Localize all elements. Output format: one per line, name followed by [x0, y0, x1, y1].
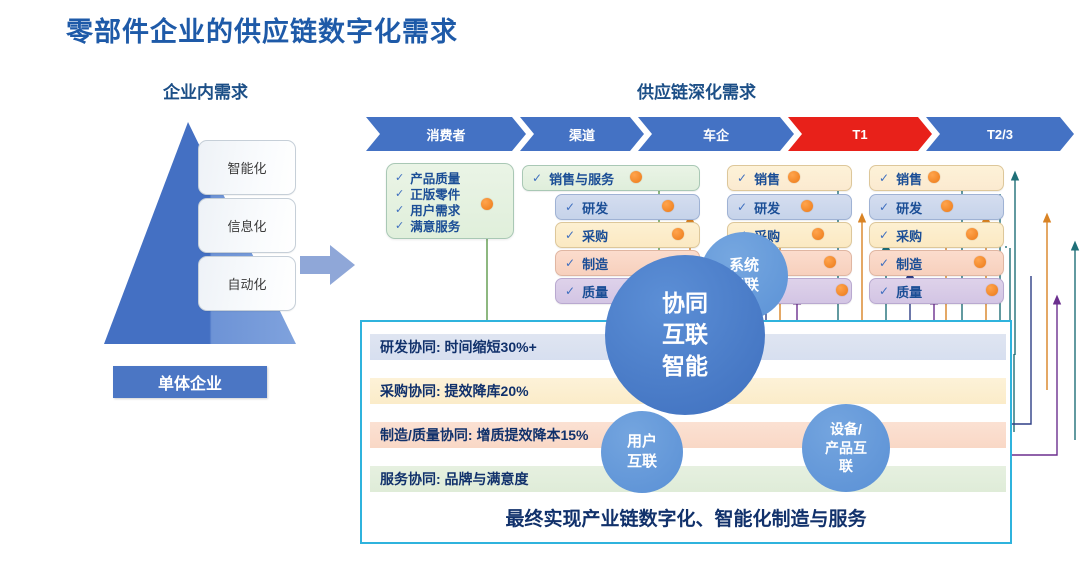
status-dot: [941, 200, 953, 212]
slide-canvas: 零部件企业的供应链数字化需求 企业内需求 供应链深化需求 智能化 信息化 自动化: [0, 0, 1080, 578]
oem-sales-service-label: 销售与服务: [549, 169, 614, 188]
t1-item-label: 研发: [754, 198, 780, 217]
check-icon: ✓: [879, 172, 889, 184]
t23-rd-pill[interactable]: ✓ 研发: [869, 194, 1004, 220]
check-icon: ✓: [395, 187, 404, 200]
circle-line: 设备/: [830, 420, 862, 439]
status-dot: [630, 171, 642, 183]
t23-item-label: 制造: [896, 254, 922, 273]
check-icon: ✓: [737, 201, 747, 213]
status-dot: [824, 256, 836, 268]
t1-rd-pill[interactable]: ✓ 研发: [727, 194, 852, 220]
synergy-row-label: 研发协同: 时间缩短30%+: [380, 337, 537, 357]
t23-quality-pill[interactable]: ✓ 质量: [869, 278, 1004, 304]
circle-line: 协同: [662, 288, 708, 319]
oem-item-label: 研发: [582, 198, 608, 217]
check-icon: ✓: [879, 285, 889, 297]
synergy-row-manufacture-quality: 制造/质量协同: 增质提效降本15%: [370, 422, 1006, 448]
check-icon: ✓: [395, 219, 404, 232]
status-dot: [928, 171, 940, 183]
status-dot: [966, 228, 978, 240]
oem-rd-pill[interactable]: ✓ 研发: [555, 194, 700, 220]
t23-item-label: 采购: [896, 226, 922, 245]
oem-item-label: 制造: [582, 254, 608, 273]
t23-item-label: 销售: [896, 169, 922, 188]
synergy-row-service: 服务协同: 品牌与满意度: [370, 466, 1006, 492]
check-icon: ✓: [532, 172, 542, 184]
circle-line: 用户: [627, 432, 657, 452]
status-dot: [812, 228, 824, 240]
circle-line: 互联: [662, 319, 708, 350]
check-icon: ✓: [737, 172, 747, 184]
check-icon: ✓: [565, 285, 575, 297]
oem-sales-service-pill[interactable]: ✓ 销售与服务: [522, 165, 700, 191]
circle-core-synergy[interactable]: 协同 互联 智能: [605, 255, 765, 415]
status-dot: [836, 284, 848, 296]
t23-item-label: 研发: [896, 198, 922, 217]
synergy-row-label: 服务协同: 品牌与满意度: [380, 469, 529, 489]
synergy-row-label: 制造/质量协同: 增质提效降本15%: [380, 425, 588, 445]
circle-line: 互联: [627, 452, 657, 472]
check-icon: ✓: [879, 229, 889, 241]
circle-device-product-interconnect[interactable]: 设备/ 产品互 联: [802, 404, 890, 492]
oem-item-label: 质量: [582, 282, 608, 301]
status-dot: [974, 256, 986, 268]
consumer-item-label: 满意服务: [410, 216, 460, 235]
oem-item-label: 采购: [582, 226, 608, 245]
t1-item-label: 销售: [754, 169, 780, 188]
check-icon: ✓: [395, 171, 404, 184]
check-icon: ✓: [879, 257, 889, 269]
t23-purchase-pill[interactable]: ✓ 采购: [869, 222, 1004, 248]
status-dot: [672, 228, 684, 240]
status-dot: [801, 200, 813, 212]
circle-line: 产品互: [825, 439, 867, 458]
status-dot: [986, 284, 998, 296]
check-icon: ✓: [565, 229, 575, 241]
check-icon: ✓: [565, 257, 575, 269]
synergy-row-label: 采购协同: 提效降库20%: [380, 381, 529, 401]
check-icon: ✓: [395, 203, 404, 216]
circle-user-interconnect[interactable]: 用户 互联: [601, 411, 683, 493]
circle-line: 智能: [662, 351, 708, 382]
status-dot: [788, 171, 800, 183]
status-dot: [662, 200, 674, 212]
panel-footer-text: 最终实现产业链数字化、智能化制造与服务: [362, 504, 1010, 531]
check-icon: ✓: [565, 201, 575, 213]
consumer-requirements-box[interactable]: ✓ 产品质量 ✓ 正版零件 ✓ 用户需求 ✓ 满意服务: [386, 163, 514, 239]
list-item: ✓ 满意服务: [387, 217, 513, 233]
status-dot: [481, 198, 493, 210]
check-icon: ✓: [879, 201, 889, 213]
t23-item-label: 质量: [896, 282, 922, 301]
circle-line: 联: [839, 457, 853, 476]
